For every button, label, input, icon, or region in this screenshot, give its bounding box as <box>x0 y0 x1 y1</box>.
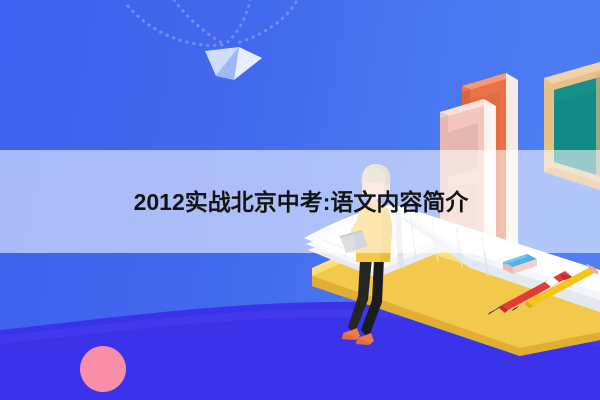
banner-root: 2012实战北京中考:语文内容简介 <box>0 0 600 400</box>
page-title: 2012实战北京中考:语文内容简介 <box>132 191 469 214</box>
title-band: 2012实战北京中考:语文内容简介 <box>0 150 600 253</box>
